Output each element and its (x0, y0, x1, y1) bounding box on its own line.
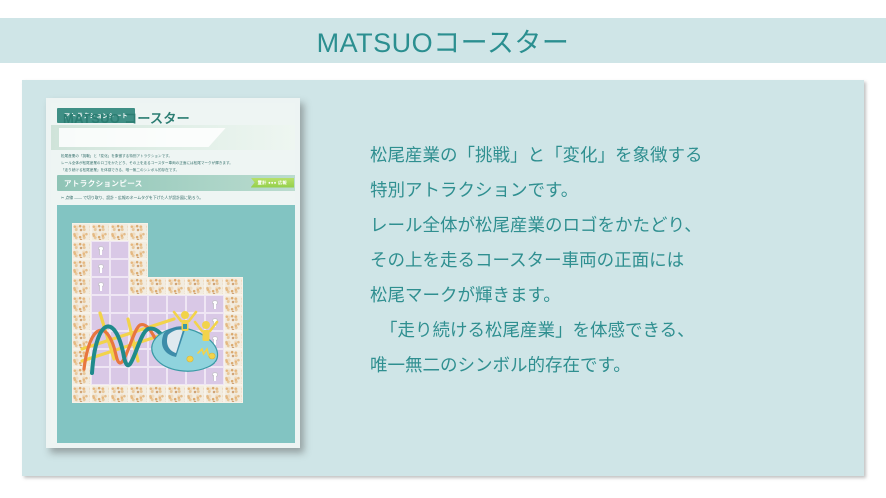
map-board (72, 223, 244, 403)
map-cell-open (110, 277, 129, 295)
description-line: 「走り続ける松尾産業」を体感できる、 (370, 313, 850, 348)
description-block: 松尾産業の「挑戦」と「変化」を象徴する 特別アトラクションです。 レール全体が松… (370, 138, 850, 383)
sheet-description-line: 松尾産業の「挑戦」と「変化」を象徴する特別アトラクションです。 (61, 153, 293, 160)
map-cell-border (148, 277, 167, 295)
map-cell-border (91, 223, 110, 241)
map-cell-open (110, 241, 129, 259)
map-cell-border (110, 223, 129, 241)
piece-section-subtitle: ✂ 点線 ―― で切り取り、設計・広報のネームタグを下げた人が設計図に貼ろう。 (61, 195, 293, 201)
content-panel: アトラクションシート MATSUO コースター 松尾産業の「挑戦」と「変化」を象… (22, 80, 864, 476)
description-line: レール全体が松尾産業のロゴをかたどり、 (370, 208, 850, 243)
map-cell-border (148, 385, 167, 403)
map-cell-border (167, 385, 186, 403)
sheet-description-line: レール全体が松尾産業のロゴをかたどり、その上を走るコースター車両の正面には松尾マ… (61, 160, 293, 167)
map-cell-border (129, 385, 148, 403)
map-cell-border (167, 277, 186, 295)
title-swoosh-shape (59, 128, 229, 147)
page-title: MATSUOコースター (317, 21, 570, 60)
description-line: その上を走るコースター車両の正面には (370, 243, 850, 278)
map-cell-border (186, 277, 205, 295)
coaster-illustration (78, 299, 238, 385)
map-cell-border (129, 241, 148, 259)
page-root: MATSUOコースター アトラクションシート MATSUO コースター 松尾産業… (0, 0, 886, 498)
map-cell-border (129, 277, 148, 295)
page-title-band: MATSUOコースター (0, 18, 886, 63)
description-line: 松尾産業の「挑戦」と「変化」を象徴する (370, 138, 850, 173)
description-line: 松尾マークが輝きます。 (370, 278, 850, 313)
piece-section-title: アトラクションピース (64, 178, 143, 189)
attraction-sheet-card[interactable]: アトラクションシート MATSUO コースター 松尾産業の「挑戦」と「変化」を象… (46, 98, 300, 448)
map-cell-open (110, 259, 129, 277)
sheet-description: 松尾産業の「挑戦」と「変化」を象徴する特別アトラクションです。 レール全体が松尾… (61, 153, 293, 173)
map-cell-border (186, 385, 205, 403)
map-cell-border (224, 277, 243, 295)
sheet-title: MATSUO コースター (63, 108, 190, 127)
sheet-description-line: 「走り続ける松尾産業」を体感できる、唯一無二のシンボル的存在です。 (61, 167, 293, 174)
sheet-titlebar (51, 125, 295, 150)
map-cell-border (224, 385, 243, 403)
map-cell-border (110, 385, 129, 403)
map-cell-border (72, 241, 91, 259)
map-cell-border (205, 277, 224, 295)
map-cell-border (72, 385, 91, 403)
piece-section-header: アトラクションピース 置計 ●●● 広報 (57, 175, 295, 191)
piece-badge: 置計 ●●● 広報 (251, 178, 294, 188)
map-cell-border (72, 277, 91, 295)
attraction-sheet-inner: アトラクションシート MATSUO コースター 松尾産業の「挑戦」と「変化」を象… (51, 103, 295, 443)
map-cell-border (72, 223, 91, 241)
map-pin-icon (97, 264, 103, 273)
map-cell-border (72, 259, 91, 277)
map-cell-border (91, 385, 110, 403)
attraction-map[interactable] (57, 205, 295, 443)
map-pin-icon (97, 246, 103, 255)
map-pin-icon (97, 282, 103, 291)
description-line: 唯一無二のシンボル的存在です。 (370, 348, 850, 383)
map-cell-border (129, 259, 148, 277)
description-line: 特別アトラクションです。 (370, 173, 850, 208)
map-cell-border (205, 385, 224, 403)
map-cell-border (129, 223, 148, 241)
